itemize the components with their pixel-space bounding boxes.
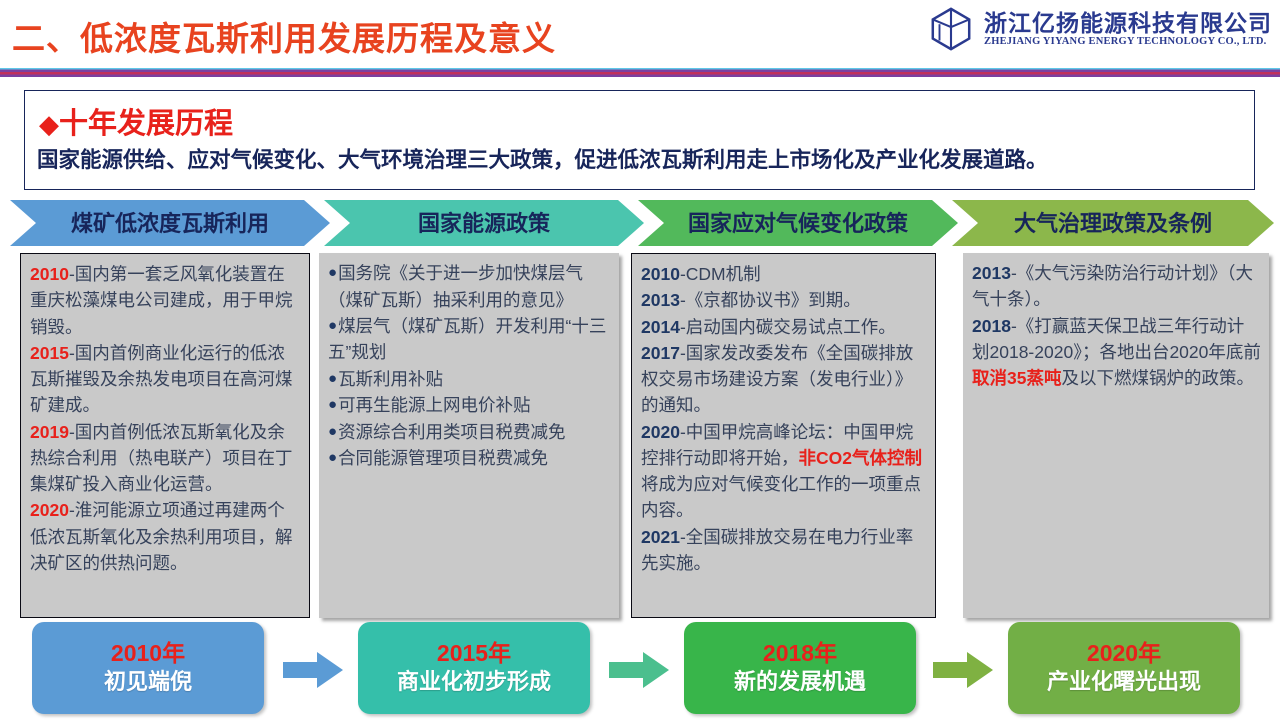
entry-text: -CDM机制	[680, 264, 761, 284]
overview-box: ◆十年发展历程 国家能源供给、应对气候变化、大气环境治理三大政策，促进低浓瓦斯利…	[24, 90, 1255, 190]
slide-header: 二、低浓度瓦斯利用发展历程及意义 浙江亿扬能源科技有限公司 ZHEJIANG Y…	[0, 0, 1280, 70]
panel-climate-policy: 2010-CDM机制 2013-《京都协议书》到期。 2014-启动国内碳交易试…	[631, 253, 936, 618]
entry-2020: 2020-淮河能源立项通过再建两个低浓瓦斯氧化及余热利用项目，解决矿区的供热问题…	[30, 497, 301, 576]
list-item: ●合同能源管理项目税费减免	[328, 445, 611, 472]
milestone-label: 产业化曙光出现	[1047, 668, 1201, 697]
bullet-dot-icon: ●	[328, 264, 337, 281]
list-item: ●可再生能源上网电价补贴	[328, 392, 611, 419]
milestone-label: 新的发展机遇	[734, 668, 866, 697]
hexagon-cube-logo-icon	[928, 6, 974, 52]
list-item: ●煤层气（煤矿瓦斯）开发利用“十三五”规划	[328, 313, 611, 366]
milestone-label: 商业化初步形成	[397, 668, 551, 697]
bullet-dot-icon: ●	[328, 396, 337, 413]
chevron-label: 大气治理政策及条例	[1014, 206, 1212, 238]
entry-2010: 2010-国内第一套乏风氧化装置在重庆松藻煤电公司建成，用于甲烷销毁。	[30, 261, 301, 340]
list-item: ●资源综合利用类项目税费减免	[328, 419, 611, 446]
bullet-dot-icon: ●	[328, 449, 337, 466]
entry-text: -全国碳排放交易在电力行业率先实施。	[641, 527, 913, 573]
entry-year: 2013	[641, 290, 680, 310]
entry-year: 2017	[641, 343, 680, 363]
entry-year: 2020	[641, 422, 680, 442]
chevron-label: 国家能源政策	[418, 206, 550, 238]
list-item-text: 煤层气（煤矿瓦斯）开发利用“十三五”规划	[328, 316, 606, 363]
entry-text-after: 将成为应对气候变化工作的一项重点内容。	[641, 474, 921, 520]
entry-2013: 2013-《大气污染防治行动计划》（大气十条）。	[972, 260, 1261, 313]
bullet-dot-icon: ●	[328, 370, 337, 387]
list-item-text: 瓦斯利用补贴	[338, 369, 443, 389]
entry-year: 2010	[641, 264, 680, 284]
chevron-air-policy[interactable]: 大气治理政策及条例	[952, 200, 1274, 246]
panel-air-policy: 2013-《大气污染防治行动计划》（大气十条）。 2018-《打赢蓝天保卫战三年…	[963, 253, 1269, 618]
overview-heading-text: 十年发展历程	[59, 108, 233, 140]
chevron-energy-policy[interactable]: 国家能源政策	[324, 200, 644, 246]
entry-text-after: 及以下燃煤锅炉的政策。	[1061, 368, 1254, 388]
milestone-2010[interactable]: 2010年 初见端倪	[32, 622, 264, 714]
entry-2017: 2017-国家发改委发布《全国碳排放权交易市场建设方案（发电行业）》的通知。	[641, 340, 927, 419]
entry-year: 2021	[641, 527, 680, 547]
list-item: ●国务院《关于进一步加快煤层气（煤矿瓦斯）抽采利用的意见》	[328, 260, 611, 313]
entry-highlight: 取消35蒸吨	[972, 368, 1061, 388]
panel-energy-policy: ●国务院《关于进一步加快煤层气（煤矿瓦斯）抽采利用的意见》 ●煤层气（煤矿瓦斯）…	[319, 253, 619, 618]
entry-2015: 2015-国内首例商业化运行的低浓瓦斯摧毁及余热发电项目在高河煤矿建成。	[30, 340, 301, 419]
overview-subtitle: 国家能源供给、应对气候变化、大气环境治理三大政策，促进低浓瓦斯利用走上市场化及产…	[37, 143, 1048, 174]
milestone-2020[interactable]: 2020年 产业化曙光出现	[1008, 622, 1240, 714]
entry-2018: 2018-《打赢蓝天保卫战三年行动计划2018-2020》；各地出台2020年底…	[972, 313, 1261, 392]
diamond-bullet-icon: ◆	[39, 109, 59, 139]
company-name-en: ZHEJIANG YIYANG ENERGY TECHNOLOGY CO., L…	[984, 36, 1272, 47]
arrow-right-icon	[609, 650, 671, 690]
entry-text: -国内首例商业化运行的低浓瓦斯摧毁及余热发电项目在高河煤矿建成。	[30, 343, 293, 416]
entry-highlight: 非CO2气体控制	[799, 448, 922, 468]
header-divider	[0, 68, 1280, 77]
chevron-label: 国家应对气候变化政策	[688, 206, 908, 238]
entry-year: 2010	[30, 264, 69, 284]
entry-text: -《京都协议书》到期。	[680, 290, 861, 310]
milestone-year: 2010年	[111, 639, 185, 668]
milestone-2018[interactable]: 2018年 新的发展机遇	[684, 622, 916, 714]
list-item-text: 资源综合利用类项目税费减免	[338, 422, 566, 442]
chevron-climate-policy[interactable]: 国家应对气候变化政策	[638, 200, 958, 246]
entry-text: -国家发改委发布《全国碳排放权交易市场建设方案（发电行业）》的通知。	[641, 343, 913, 416]
category-chevron-band: 煤矿低浓度瓦斯利用 国家能源政策 国家应对气候变化政策 大气治理政策及条例	[0, 200, 1280, 246]
list-item: ●瓦斯利用补贴	[328, 366, 611, 393]
company-logo: 浙江亿扬能源科技有限公司 ZHEJIANG YIYANG ENERGY TECH…	[928, 6, 1272, 52]
entry-year: 2018	[972, 316, 1011, 336]
entry-year: 2020	[30, 500, 69, 520]
bullet-dot-icon: ●	[328, 423, 337, 440]
entry-2013: 2013-《京都协议书》到期。	[641, 287, 927, 313]
chevron-coal-mine-gas[interactable]: 煤矿低浓度瓦斯利用	[10, 200, 330, 246]
chevron-label: 煤矿低浓度瓦斯利用	[71, 206, 269, 238]
panel-coal-mine-gas: 2010-国内第一套乏风氧化装置在重庆松藻煤电公司建成，用于甲烷销毁。 2015…	[20, 253, 310, 618]
entry-text-before: -《打赢蓝天保卫战三年行动计划2018-2020》；各地出台2020年底前	[972, 316, 1261, 362]
page-title: 二、低浓度瓦斯利用发展历程及意义	[12, 12, 556, 60]
bullet-dot-icon: ●	[328, 317, 337, 334]
entry-text: -国内首例低浓瓦斯氧化及余热综合利用（热电联产）项目在丁集煤矿投入商业化运营。	[30, 422, 293, 495]
entry-year: 2015	[30, 343, 69, 363]
arrow-right-icon	[283, 650, 345, 690]
milestone-year: 2015年	[437, 639, 511, 668]
milestone-year: 2018年	[763, 639, 837, 668]
milestone-label: 初见端倪	[104, 668, 192, 697]
entry-text: -淮河能源立项通过再建两个低浓瓦斯氧化及余热利用项目，解决矿区的供热问题。	[30, 500, 293, 573]
entry-text: -国内第一套乏风氧化装置在重庆松藻煤电公司建成，用于甲烷销毁。	[30, 264, 293, 337]
entry-2014: 2014-启动国内碳交易试点工作。	[641, 314, 927, 340]
entry-2021: 2021-全国碳排放交易在电力行业率先实施。	[641, 524, 927, 577]
overview-heading: ◆十年发展历程	[39, 100, 233, 142]
entry-year: 2013	[972, 263, 1011, 283]
entry-2010: 2010-CDM机制	[641, 261, 927, 287]
entry-year: 2014	[641, 317, 680, 337]
milestone-year: 2020年	[1087, 639, 1161, 668]
milestone-2015[interactable]: 2015年 商业化初步形成	[358, 622, 590, 714]
entry-text: -《大气污染防治行动计划》（大气十条）。	[972, 263, 1253, 309]
milestone-row: 2010年 初见端倪 2015年 商业化初步形成 2018年 新的发展机遇 20…	[0, 622, 1280, 720]
entry-year: 2019	[30, 422, 69, 442]
arrow-right-icon	[933, 650, 995, 690]
list-item-text: 国务院《关于进一步加快煤层气（煤矿瓦斯）抽采利用的意见》	[328, 263, 583, 310]
entry-text: -启动国内碳交易试点工作。	[680, 317, 896, 337]
list-item-text: 可再生能源上网电价补贴	[338, 395, 531, 415]
entry-2019: 2019-国内首例低浓瓦斯氧化及余热综合利用（热电联产）项目在丁集煤矿投入商业化…	[30, 419, 301, 498]
list-item-text: 合同能源管理项目税费减免	[338, 448, 548, 468]
company-name-cn: 浙江亿扬能源科技有限公司	[984, 11, 1272, 35]
entry-2020: 2020-中国甲烷高峰论坛：中国甲烷控排行动即将开始，非CO2气体控制将成为应对…	[641, 419, 927, 524]
